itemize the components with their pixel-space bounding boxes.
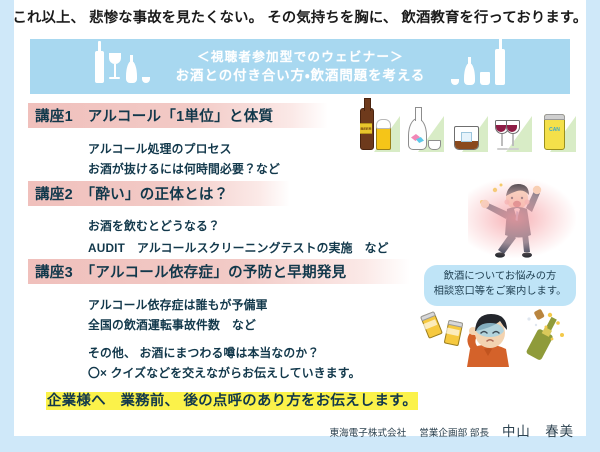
course-3-line-1: アルコール依存症は誰もが予備軍 [88,296,268,313]
course-band-2: 講座2 「酔い」の正体とは？ [28,181,290,206]
banner-subtitle: ＜視聴者参加型でのウェビナー＞ [176,48,426,66]
illustration-beer: BEER [358,102,400,152]
drunk-dancer-illustration [468,178,586,260]
banner-title: お酒との付き合い方・飲酒問題を考える [176,66,426,85]
footer-signature: 東海電子株式会社 営業企画部 部長 中山 春美 [329,420,574,440]
consultation-callout-line-1: 飲酒についてお悩みの方 [428,270,572,285]
consultation-callout: 飲酒についてお悩みの方 相談窓口等をご案内します。 [424,265,576,306]
webinar-banner: ＜視聴者参加型でのウェビナー＞ お酒との付き合い方・飲酒問題を考える [30,39,570,94]
banner-text-block: ＜視聴者参加型でのウェビナー＞ お酒との付き合い方・飲酒問題を考える [176,48,426,86]
course-3-line-2: 全国の飲酒運転事故件数 など [88,316,256,333]
course-band-1-label: 講座1 アルコール「1単位」と体質 [35,105,273,126]
bottle-silhouette-icon [495,49,505,85]
course-band-3: 講座3 「アルコール依存症」の予防と早期発見 [28,259,410,284]
consultation-callout-line-2: 相談窓口等をご案内します。 [428,285,572,300]
page-headline: これ以上、 悲惨な事故を見たくない。 その気持ちを胸に、 飲酒教育を行っておりま… [0,6,600,27]
course-1-line-2: お酒が抜けるには何時間必要？など [88,160,280,177]
sake-flask-silhouette-icon [126,61,137,83]
banner-icons-left [95,51,150,83]
course-3-line-3: その他、 お酒にまつわる噂は本当なのか？ [88,344,319,361]
course-3-line-4: 〇× クイズなどを交えながらお伝えしていきます。 [88,364,361,381]
illustration-sake [402,102,444,152]
illustration-can: CAN [534,102,576,152]
wine-glass-silhouette-icon [109,53,121,83]
highlight-message-text: 企業様へ 業務前、 後の点呼のあり方をお伝えします。 [46,392,418,410]
illustration-wine [490,102,532,152]
hangover-illustration [424,305,584,367]
course-band-3-label: 講座3 「アルコール依存症」の予防と早期発見 [35,261,346,282]
bottle-silhouette-icon [95,51,104,83]
footer-company: 東海電子株式会社 [329,425,406,439]
highlight-message: 企業様へ 業務前、 後の点呼のあり方をお伝えします。 [46,389,418,410]
dancer-glow [468,178,576,258]
sake-cup-silhouette-icon [142,77,150,83]
footer-department: 営業企画部 部長 [419,425,489,439]
course-2-line-1: お酒を飲むとどうなる？ [88,217,220,234]
tumbler-silhouette-icon [480,72,490,85]
course-1-line-1: アルコール処理のプロセス [88,140,232,157]
course-2-line-2: AUDIT アルコールスクリーニングテストの実施 など [88,239,389,256]
drinks-illustration-row: BEER CAN [358,100,578,152]
sake-flask-silhouette-icon [464,63,475,85]
course-band-1: 講座1 アルコール「1単位」と体質 [28,103,328,128]
banner-icons-right [451,49,505,85]
slide-page: これ以上、 悲惨な事故を見たくない。 その気持ちを胸に、 飲酒教育を行っておりま… [0,0,600,452]
course-band-2-label: 講座2 「酔い」の正体とは？ [35,183,229,204]
sake-cup-silhouette-icon [451,79,459,85]
illustration-whiskey [446,102,488,152]
footer-person: 中山 春美 [502,420,574,440]
